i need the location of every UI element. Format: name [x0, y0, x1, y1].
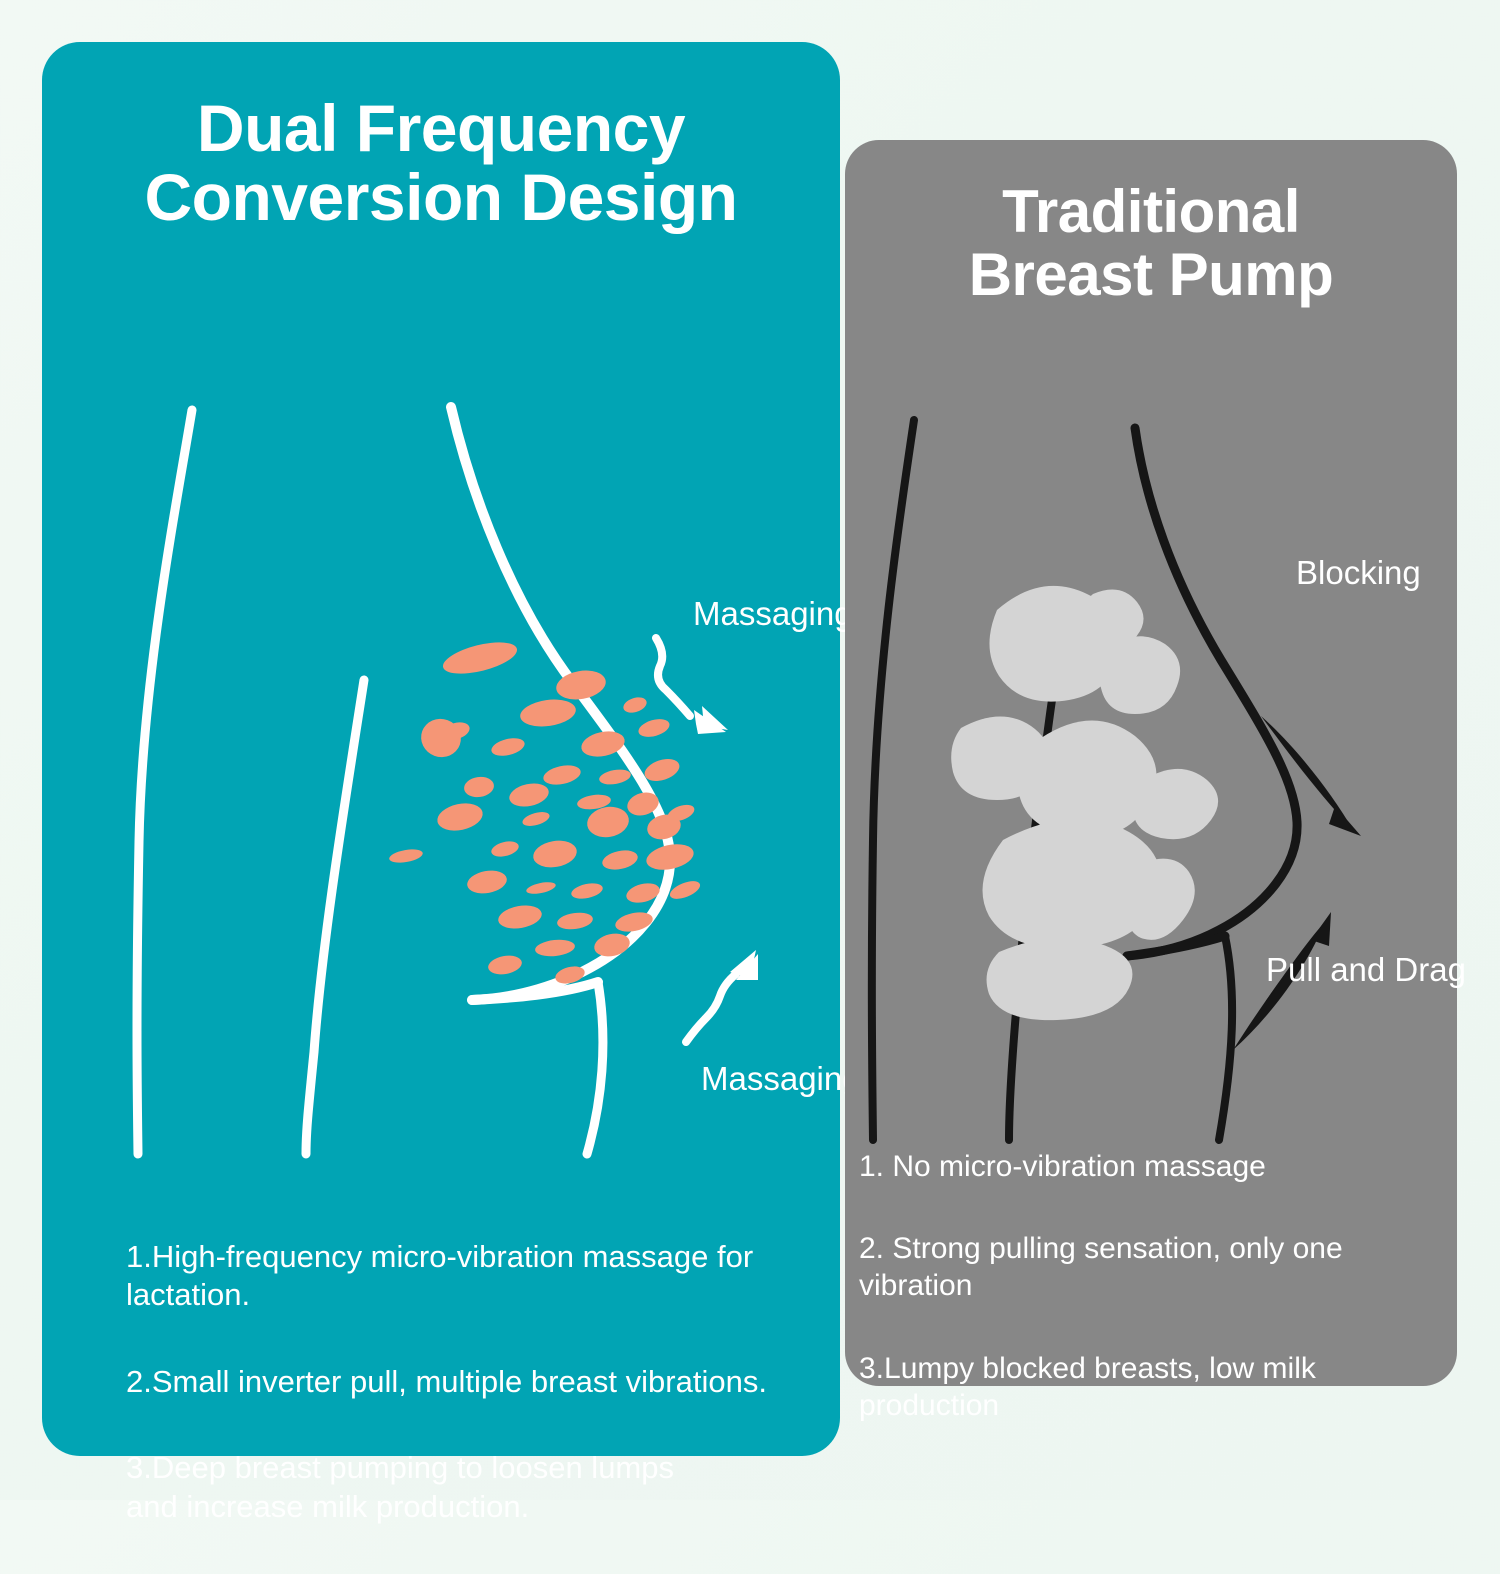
callout-massaging-bottom: Massaging	[701, 1060, 861, 1098]
right-panel-traditional-pump: Traditional Breast Pump	[845, 140, 1457, 1386]
belly-line	[1219, 936, 1232, 1140]
underbust-line	[472, 982, 598, 1000]
comparison-infographic: Dual Frequency Conversion Design	[0, 0, 1500, 1500]
left-bullet-list: 1.High-frequency micro-vibration massage…	[126, 1238, 866, 1574]
underbust-line	[1127, 936, 1225, 956]
blocked-lump-cluster	[951, 586, 1218, 1020]
callout-pull-and-drag: Pull and Drag	[1266, 951, 1466, 989]
massaging-arrow-down	[656, 638, 728, 734]
belly-line	[587, 982, 603, 1154]
blocking-arrow	[1261, 716, 1361, 836]
callout-blocking: Blocking	[1296, 554, 1421, 592]
right-bullet-2: 2. Strong pulling sensation, only one vi…	[859, 1230, 1443, 1304]
right-bullet-3: 3.Lumpy blocked breasts, low milk produc…	[859, 1350, 1443, 1424]
massaging-arrow-up	[686, 950, 758, 1042]
right-bullet-1: 1. No micro-vibration massage	[859, 1148, 1443, 1185]
callout-massaging-top: Massaging	[693, 595, 853, 633]
left-bullet-2: 2.Small inverter pull, multiple breast v…	[126, 1363, 866, 1401]
left-bullet-1: 1.High-frequency micro-vibration massage…	[126, 1238, 866, 1315]
torso-back-line	[137, 410, 192, 1154]
left-panel-dual-frequency: Dual Frequency Conversion Design	[42, 42, 840, 1456]
arm-line	[306, 680, 364, 1154]
left-bullet-3: 3.Deep breast pumping to loosen lumps an…	[126, 1449, 866, 1526]
torso-back-line	[872, 420, 914, 1140]
right-bullet-list: 1. No micro-vibration massage 2. Strong …	[845, 1148, 1457, 1469]
